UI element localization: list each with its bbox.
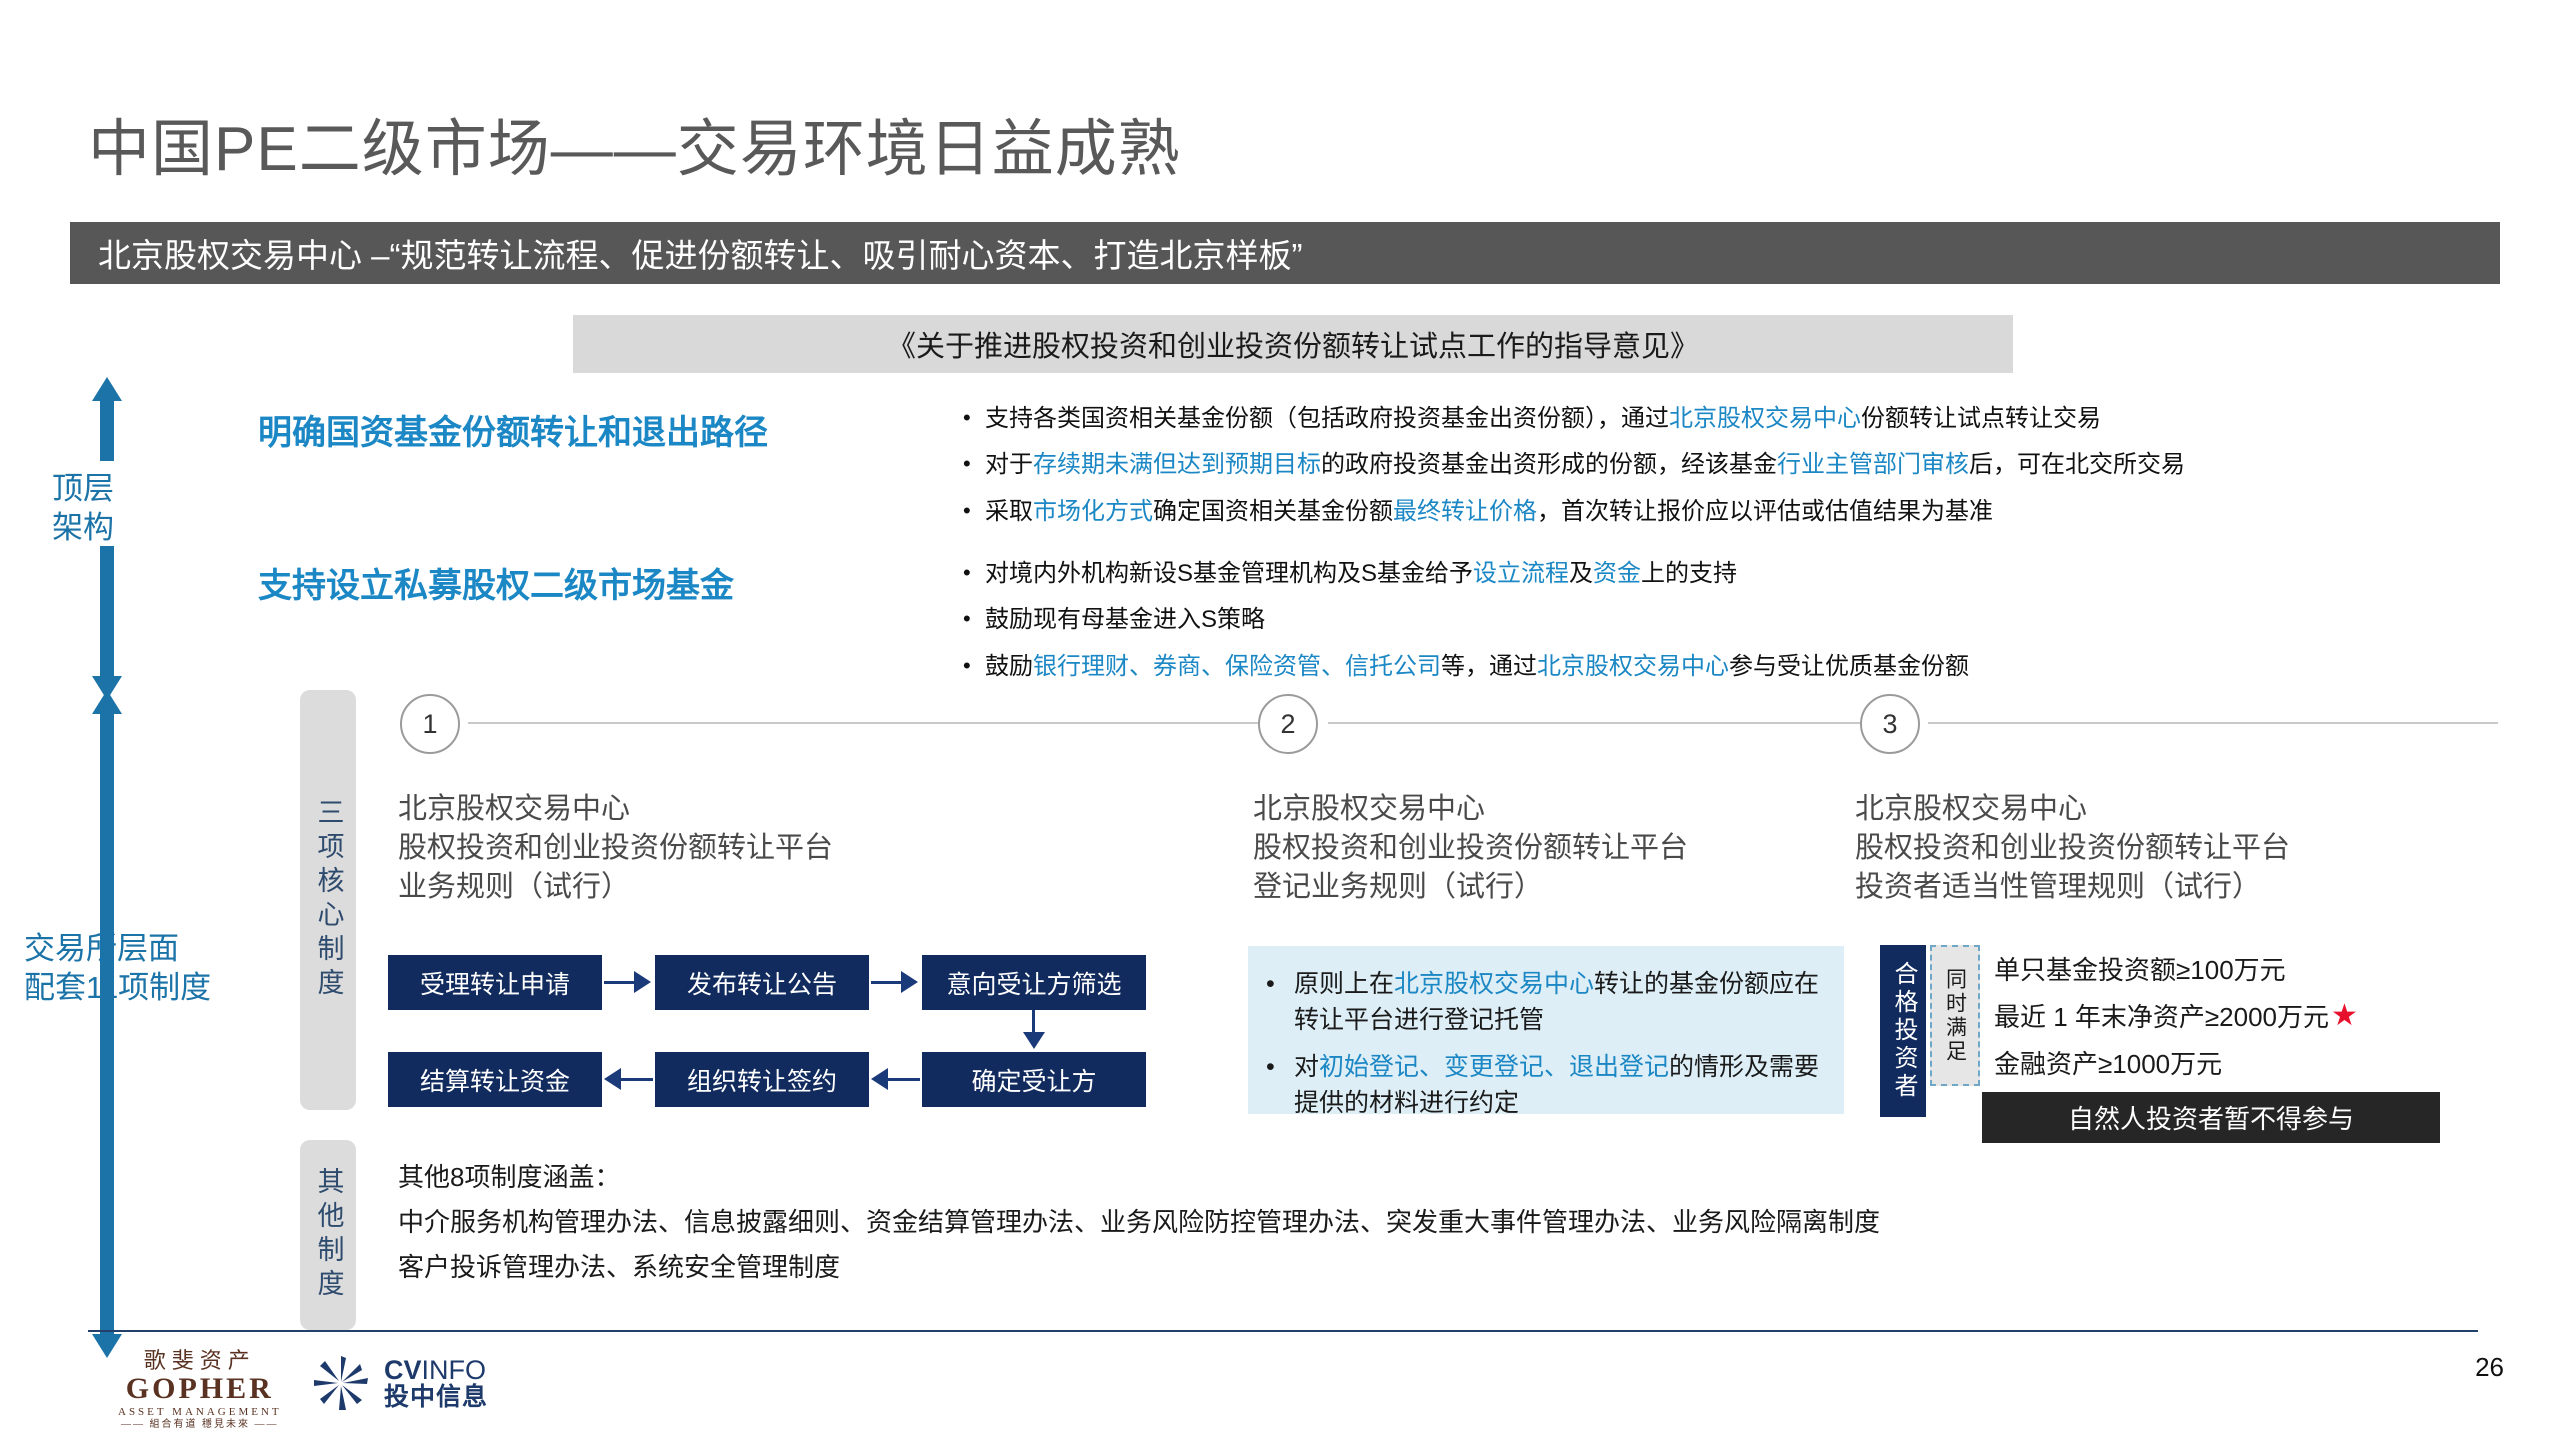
policy-document-title: 《关于推进股权投资和创业投资份额转让试点工作的指导意见》 <box>887 323 1699 365</box>
flow-arrow-4-5 <box>888 1078 920 1081</box>
side-tab-core-systems: 三项核心制度 <box>300 690 356 1110</box>
investor-condition-label: 同时满足 <box>1945 968 1966 1064</box>
bullet-item: •鼓励现有母基金进入S策略 <box>963 604 1969 636</box>
investor-criterion: 单只基金投资额≥100万元 <box>1986 945 2440 992</box>
axis-bar-bottom <box>100 714 114 1334</box>
timeline-connector-1 <box>468 722 1268 724</box>
side-tab-other-systems-label: 其他制度 <box>315 1167 342 1303</box>
bullet-text: 对境内外机构新设S基金管理机构及S基金给予设立流程及资金上的支持 <box>985 558 1737 590</box>
axis-label-bottom: 交易所层面 配套11项制度 <box>24 930 211 1008</box>
bullet-dot-icon: • <box>1266 966 1294 1002</box>
step-circle-1: 1 <box>400 694 460 754</box>
investor-left-label: 合格投资者 <box>1880 945 1926 1117</box>
cvinfo-logo-cn: 投中信息 <box>384 1384 488 1410</box>
flow-arrow-5-6 <box>621 1078 653 1081</box>
bullet-item: •对初始登记、变更登记、退出登记的情形及需要提供的材料进行约定 <box>1266 1049 1822 1122</box>
flow-arrowhead-4-5-icon <box>871 1068 888 1090</box>
flow-box-4[interactable]: 确定受让方 <box>922 1052 1146 1107</box>
gopher-logo-tagline: —— 組合有道 穩見未來 —— <box>118 1420 282 1430</box>
investor-qualification-table: 合格投资者 同时满足 单只基金投资额≥100万元最近 1 年末净资产≥2000万… <box>1880 945 2440 1117</box>
column2-panel: •原则上在北京股权交易中心转让的基金份额应在转让平台进行登记托管•对初始登记、变… <box>1248 946 1844 1114</box>
subtitle-bar: 北京股权交易中心 –“规范转让流程、促进份额转让、吸引耐心资本、打造北京样板” <box>70 222 2500 284</box>
bullet-item: •对于存续期未满但达到预期目标的政府投资基金出资形成的份额，经该基金行业主管部门… <box>963 449 2185 481</box>
bullet-text: 鼓励银行理财、券商、保险资管、信托公司等，通过北京股权交易中心参与受让优质基金份… <box>985 651 1969 683</box>
flow-box-2[interactable]: 发布转让公告 <box>655 955 869 1010</box>
column-title-2: 北京股权交易中心 股权投资和创业投资份额转让平台 登记业务规则（试行） <box>1253 790 1688 907</box>
flow-arrowhead-5-6-icon <box>604 1068 621 1090</box>
gopher-logo-subtitle: ASSET MANAGEMENT <box>118 1407 282 1418</box>
bullet-dot-icon: • <box>963 449 985 479</box>
other-systems-lead: 其他8项制度涵盖： <box>398 1158 620 1197</box>
bullet-item: •采取市场化方式确定国资相关基金份额最终转让价格，首次转让报价应以评估或估值结果… <box>963 496 2185 528</box>
bullet-text: 鼓励现有母基金进入S策略 <box>985 604 1265 636</box>
investor-left-label-text: 合格投资者 <box>1891 961 1915 1101</box>
policy-document-title-box: 《关于推进股权投资和创业投资份额转让试点工作的指导意见》 <box>573 315 2013 373</box>
gopher-logo-cn: 歌斐资产 <box>118 1350 282 1372</box>
page-title: 中国PE二级市场——交易环境日益成熟 <box>88 98 1181 188</box>
bullet-text: 采取市场化方式确定国资相关基金份额最终转让价格，首次转让报价应以评估或估值结果为… <box>985 496 1993 528</box>
bullet-text: 原则上在北京股权交易中心转让的基金份额应在转让平台进行登记托管 <box>1294 966 1822 1039</box>
flow-arrowhead-2-3-icon <box>901 971 918 993</box>
bullet-item: •对境内外机构新设S基金管理机构及S基金给予设立流程及资金上的支持 <box>963 558 1969 590</box>
other-systems-line2: 客户投诉管理办法、系统安全管理制度 <box>398 1248 840 1287</box>
other-systems-line1: 中介服务机构管理办法、信息披露细则、资金结算管理办法、业务风险防控管理办法、突发… <box>398 1203 1880 1242</box>
column2-bullet-list: •原则上在北京股权交易中心转让的基金份额应在转让平台进行登记托管•对初始登记、变… <box>1266 966 1822 1121</box>
flow-box-5[interactable]: 组织转让签约 <box>655 1052 869 1107</box>
flow-arrow-2-3 <box>871 981 903 984</box>
gopher-logo-en: GOPHER <box>118 1374 282 1404</box>
axis-arrow-up-top-icon <box>92 377 122 401</box>
bullet-dot-icon: • <box>963 496 985 526</box>
bullet-text: 对于存续期未满但达到预期目标的政府投资基金出资形成的份额，经该基金行业主管部门审… <box>985 449 2185 481</box>
column-title-1: 北京股权交易中心 股权投资和创业投资份额转让平台 业务规则（试行） <box>398 790 833 907</box>
bullet-item: •鼓励银行理财、券商、保险资管、信托公司等，通过北京股权交易中心参与受让优质基金… <box>963 651 1969 683</box>
section-heading-1: 明确国资基金份额转让和退出路径 <box>258 405 768 454</box>
bullet-dot-icon: • <box>963 651 985 681</box>
investor-criteria-list: 单只基金投资额≥100万元最近 1 年末净资产≥2000万元★金融资产≥1000… <box>1986 945 2440 1086</box>
bullet-text: 对初始登记、变更登记、退出登记的情形及需要提供的材料进行约定 <box>1294 1049 1822 1122</box>
footer-divider <box>88 1330 2478 1332</box>
investor-criterion: 最近 1 年末净资产≥2000万元★ <box>1986 992 2440 1039</box>
bullet-list-1: •支持各类国资相关基金份额（包括政府投资基金出资份额），通过北京股权交易中心份额… <box>963 403 2185 542</box>
side-tab-core-systems-label: 三项核心制度 <box>315 798 342 1002</box>
side-tab-other-systems: 其他制度 <box>300 1140 356 1330</box>
gopher-logo: 歌斐资产 GOPHER ASSET MANAGEMENT —— 組合有道 穩見未… <box>118 1350 282 1430</box>
cvinfo-burst-icon <box>310 1352 372 1414</box>
axis-bar-top-upper <box>100 399 114 461</box>
investor-criterion-text: 最近 1 年末净资产≥2000万元 <box>1994 997 2329 1034</box>
flow-arrowhead-3-4-icon <box>1023 1032 1045 1049</box>
axis-label-top: 顶层 架构 <box>52 470 114 548</box>
flow-box-1[interactable]: 受理转让申请 <box>388 955 602 1010</box>
cvinfo-logo-cv: CV <box>384 1355 422 1385</box>
bullet-dot-icon: • <box>963 558 985 588</box>
bullet-list-2: •对境内外机构新设S基金管理机构及S基金给予设立流程及资金上的支持•鼓励现有母基… <box>963 558 1969 697</box>
investor-criterion-text: 单只基金投资额≥100万元 <box>1994 950 2286 987</box>
investor-footer-note: 自然人投资者暂不得参与 <box>1982 1092 2440 1143</box>
axis-arrow-up-mid-icon <box>92 690 122 714</box>
bullet-dot-icon: • <box>1266 1049 1294 1085</box>
bullet-dot-icon: • <box>963 403 985 433</box>
bullet-item: •支持各类国资相关基金份额（包括政府投资基金出资份额），通过北京股权交易中心份额… <box>963 403 2185 435</box>
step-circle-3: 3 <box>1860 694 1920 754</box>
bullet-dot-icon: • <box>963 604 985 634</box>
subtitle-bar-text: 北京股权交易中心 –“规范转让流程、促进份额转让、吸引耐心资本、打造北京样板” <box>70 229 1303 277</box>
timeline-connector-2 <box>1328 722 1868 724</box>
section-heading-2: 支持设立私募股权二级市场基金 <box>258 558 734 607</box>
step-circle-2: 2 <box>1258 694 1318 754</box>
bullet-item: •原则上在北京股权交易中心转让的基金份额应在转让平台进行登记托管 <box>1266 966 1822 1039</box>
cvinfo-logo: CVINFO 投中信息 <box>310 1352 488 1414</box>
flow-arrow-3-4 <box>1032 1010 1035 1034</box>
investor-criterion-text: 金融资产≥1000万元 <box>1994 1044 2222 1081</box>
investor-condition-box: 同时满足 <box>1930 945 1980 1086</box>
timeline-connector-3 <box>1928 722 2498 724</box>
star-icon: ★ <box>2331 998 2358 1033</box>
flow-box-3[interactable]: 意向受让方筛选 <box>922 955 1146 1010</box>
column-title-3: 北京股权交易中心 股权投资和创业投资份额转让平台 投资者适当性管理规则（试行） <box>1855 790 2290 907</box>
cvinfo-logo-info: INFO <box>422 1355 487 1385</box>
flow-arrowhead-1-2-icon <box>634 971 651 993</box>
axis-bar-top-lower <box>100 546 114 676</box>
bullet-text: 支持各类国资相关基金份额（包括政府投资基金出资份额），通过北京股权交易中心份额转… <box>985 403 2101 435</box>
page-number: 26 <box>2475 1352 2504 1383</box>
flow-box-6[interactable]: 结算转让资金 <box>388 1052 602 1107</box>
flow-arrow-1-2 <box>604 981 636 984</box>
investor-criterion: 金融资产≥1000万元 <box>1986 1039 2440 1086</box>
